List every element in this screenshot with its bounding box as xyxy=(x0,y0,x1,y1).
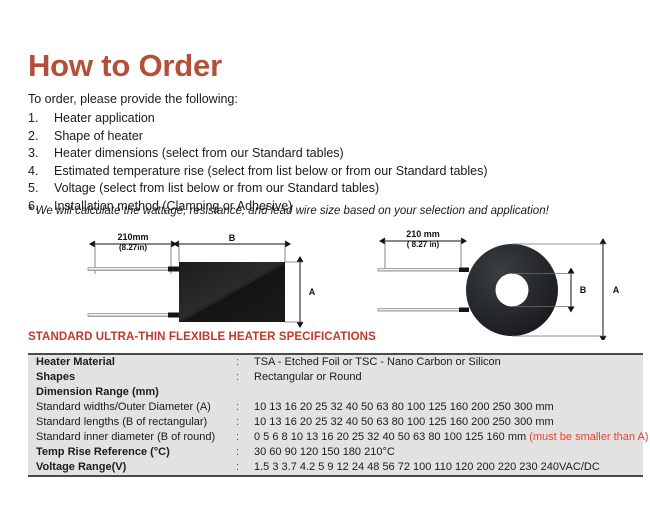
list-item-label: Heater dimensions (select from our Stand… xyxy=(54,145,628,163)
spec-row-label: Heater Material xyxy=(28,354,236,370)
spec-row-value: 0 5 6 8 10 13 16 20 25 32 40 50 63 80 10… xyxy=(254,430,643,445)
spec-row-colon: : xyxy=(236,354,254,370)
list-item-number: 4. xyxy=(28,163,54,181)
spec-row-colon: : xyxy=(236,370,254,385)
spec-row-label: Standard widths/Outer Diameter (A) xyxy=(28,400,236,415)
table-row: Dimension Range (mm) xyxy=(28,385,643,400)
spec-row-label: Dimension Range (mm) xyxy=(28,385,236,400)
table-row: Standard widths/Outer Diameter (A) : 10 … xyxy=(28,400,643,415)
rect-lead-length-mm-label: 210mm xyxy=(117,232,148,242)
spec-value-text: Rectangular or Round xyxy=(254,371,362,383)
spec-row-label: Voltage Range(V) xyxy=(28,460,236,476)
list-item-label: Shape of heater xyxy=(54,128,628,146)
spec-row-value: 30 60 90 120 150 180 210°C xyxy=(254,445,643,460)
list-item: 2. Shape of heater xyxy=(28,128,628,146)
spec-value-text: TSA - Etched Foil or TSC - Nano Carbon o… xyxy=(254,356,501,368)
table-row: Shapes : Rectangular or Round xyxy=(28,370,643,385)
order-steps-list: 1. Heater application 2. Shape of heater… xyxy=(28,110,628,215)
list-item-number: 5. xyxy=(28,180,54,198)
spec-row-value: 1.5 3 3.7 4.2 5 9 12 24 48 56 72 100 110… xyxy=(254,460,643,476)
table-row: Temp Rise Reference (°C) : 30 60 90 120 … xyxy=(28,445,643,460)
spec-value-text: 30 60 90 120 150 180 210°C xyxy=(254,446,395,458)
specifications-table: Heater Material : TSA - Etched Foil or T… xyxy=(28,353,643,477)
spec-row-value: TSA - Etched Foil or TSC - Nano Carbon o… xyxy=(254,354,643,370)
spec-row-value xyxy=(254,385,643,400)
rectangular-heater-diagram: 210mm (8.27in) B A xyxy=(88,232,316,322)
spec-row-value: 10 13 16 20 25 32 40 50 63 80 100 125 16… xyxy=(254,415,643,430)
spec-row-colon: : xyxy=(236,430,254,445)
list-item-number: 3. xyxy=(28,145,54,163)
table-row: Standard lengths (B of rectangular) : 10… xyxy=(28,415,643,430)
spec-row-value: Rectangular or Round xyxy=(254,370,643,385)
round-lead-length-in-label: ( 8.27 in) xyxy=(407,240,440,249)
table-row: Voltage Range(V) : 1.5 3 3.7 4.2 5 9 12 … xyxy=(28,460,643,476)
spec-row-colon xyxy=(236,385,254,400)
list-item-label: Voltage (select from list below or from … xyxy=(54,180,628,198)
list-item-label: Estimated temperature rise (select from … xyxy=(54,163,628,181)
spec-row-colon: : xyxy=(236,400,254,415)
list-item-label: Heater application xyxy=(54,110,628,128)
footnote-text: * We will calculate the wattage, resista… xyxy=(28,205,549,217)
spec-value-text: 10 13 16 20 25 32 40 50 63 80 100 125 16… xyxy=(254,401,554,413)
round-heater-diagram: 210 mm ( 8.27 in) B A xyxy=(378,229,620,336)
round-lead-length-mm-label: 210 mm xyxy=(406,229,440,239)
list-item: 4. Estimated temperature rise (select fr… xyxy=(28,163,628,181)
list-item-number: 1. xyxy=(28,110,54,128)
list-item: 5. Voltage (select from list below or fr… xyxy=(28,180,628,198)
spec-row-label: Temp Rise Reference (°C) xyxy=(28,445,236,460)
spec-value-note: (must be smaller than A) xyxy=(529,431,648,443)
heater-diagram-svg: 210mm (8.27in) B A xyxy=(0,228,650,340)
rect-width-label: B xyxy=(229,233,236,243)
spec-value-text: 10 13 16 20 25 32 40 50 63 80 100 125 16… xyxy=(254,416,554,428)
document-page: How to Order To order, please provide th… xyxy=(0,0,650,523)
spec-value-text: 0 5 6 8 10 13 16 20 25 32 40 50 63 80 10… xyxy=(254,431,529,443)
rect-lead-length-in-label: (8.27in) xyxy=(119,243,147,252)
spec-row-label: Standard lengths (B of rectangular) xyxy=(28,415,236,430)
spec-row-value: 10 13 16 20 25 32 40 50 63 80 100 125 16… xyxy=(254,400,643,415)
list-item-number: 2. xyxy=(28,128,54,146)
table-row: Heater Material : TSA - Etched Foil or T… xyxy=(28,354,643,370)
spec-row-colon: : xyxy=(236,415,254,430)
heater-diagrams: 210mm (8.27in) B A xyxy=(0,228,650,340)
spec-value-text: 1.5 3 3.7 4.2 5 9 12 24 48 56 72 100 110… xyxy=(254,461,600,473)
round-outer-diameter-label: A xyxy=(613,285,620,295)
round-inner-diameter-label: B xyxy=(580,285,587,295)
rect-height-label: A xyxy=(309,287,316,297)
spec-section-heading: STANDARD ULTRA-THIN FLEXIBLE HEATER SPEC… xyxy=(28,331,376,343)
list-item: 3. Heater dimensions (select from our St… xyxy=(28,145,628,163)
list-item: 1. Heater application xyxy=(28,110,628,128)
spec-row-label: Standard inner diameter (B of round) xyxy=(28,430,236,445)
spec-row-colon: : xyxy=(236,460,254,476)
intro-text: To order, please provide the following: xyxy=(28,92,238,106)
page-title: How to Order xyxy=(28,50,222,81)
table-row: Standard inner diameter (B of round) : 0… xyxy=(28,430,643,445)
spec-row-label: Shapes xyxy=(28,370,236,385)
spec-row-colon: : xyxy=(236,445,254,460)
